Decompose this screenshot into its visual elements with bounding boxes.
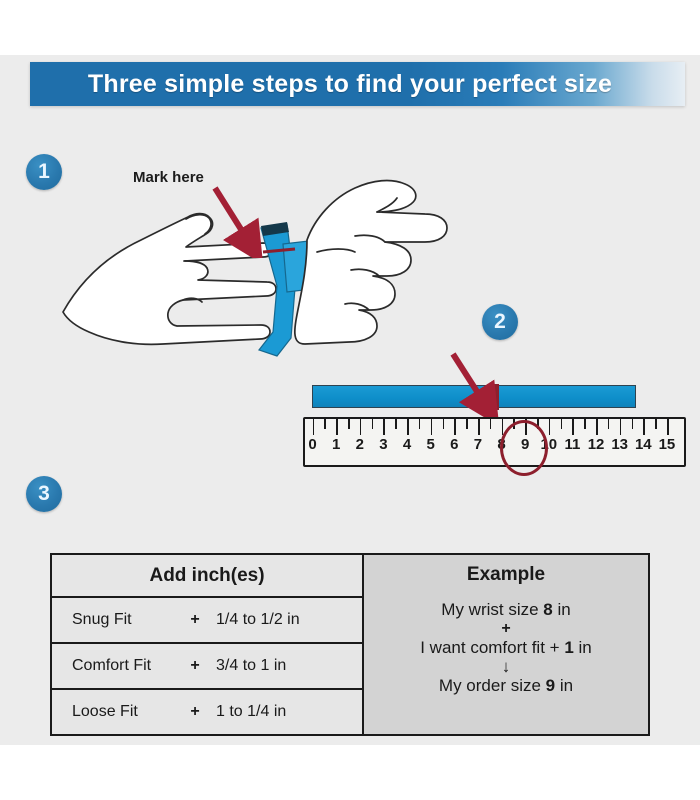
example-line-3: My order size 9 in (439, 676, 573, 697)
example-added-inches: 1 (564, 638, 573, 657)
ruler-tick-minor (655, 419, 657, 429)
example-line2-prefix: I want comfort fit + (420, 638, 564, 657)
ruler-tick-minor (443, 419, 445, 429)
ruler-tick-minor (395, 419, 397, 429)
example-line3-suffix: in (555, 676, 573, 695)
ruler-label: 1 (332, 436, 340, 453)
mark-here-arrow-icon (205, 180, 265, 258)
example-line-2: I want comfort fit + 1 in (420, 638, 592, 659)
fit-name: Loose Fit (52, 703, 174, 721)
ruler-tick-major (549, 419, 551, 435)
table-row: Snug Fit + 1/4 to 1/2 in (52, 598, 362, 644)
ruler-tick-minor (608, 419, 610, 429)
page-title: Three simple steps to find your perfect … (30, 62, 670, 106)
ruler-label: 0 (308, 436, 316, 453)
ruler-tick-major (572, 419, 574, 435)
example-down-arrow-icon: ↓ (502, 658, 511, 676)
example-wrist-size: 8 (543, 600, 552, 619)
example-panel: Example My wrist size 8 in + I want comf… (364, 555, 648, 734)
ruler-tick-major (383, 419, 385, 435)
ruler-tick-major (478, 419, 480, 435)
ruler-label: 3 (379, 436, 387, 453)
fit-name: Snug Fit (52, 611, 174, 629)
header-banner: Three simple steps to find your perfect … (30, 62, 685, 106)
ruler: 0123456789101112131415 (303, 417, 686, 467)
ruler-label: 2 (356, 436, 364, 453)
ruler-tick-major (643, 419, 645, 435)
ruler-tick-minor (584, 419, 586, 429)
ruler-label: 6 (450, 436, 458, 453)
ruler-label: 15 (659, 436, 676, 453)
example-line2-suffix: in (574, 638, 592, 657)
ruler-tick-major (454, 419, 456, 435)
example-line1-prefix: My wrist size (441, 600, 543, 619)
ruler-tick-major (667, 419, 669, 435)
ruler-tick-major (620, 419, 622, 435)
ruler-tick-minor (490, 419, 492, 429)
ruler-tick-major (431, 419, 433, 435)
ruler-tick-minor (348, 419, 350, 429)
table-header: Add inch(es) (52, 555, 362, 598)
ruler-tick-minor (632, 419, 634, 429)
plus-symbol: + (174, 657, 216, 675)
fit-value: 3/4 to 1 in (216, 657, 362, 675)
example-line1-suffix: in (553, 600, 571, 619)
ruler-label: 12 (588, 436, 605, 453)
ruler-label: 11 (565, 436, 581, 453)
ruler-tick-minor (466, 419, 468, 429)
table-row: Loose Fit + 1 to 1/4 in (52, 690, 362, 734)
add-inches-table: Add inch(es) Snug Fit + 1/4 to 1/2 in Co… (52, 555, 364, 734)
fit-value: 1/4 to 1/2 in (216, 611, 362, 629)
ruler-label: 5 (427, 436, 435, 453)
fit-name: Comfort Fit (52, 657, 174, 675)
plus-symbol: + (174, 611, 216, 629)
example-order-size: 9 (546, 676, 555, 695)
ruler-tick-major (360, 419, 362, 435)
example-plus-symbol: + (501, 621, 510, 638)
fit-value: 1 to 1/4 in (216, 703, 362, 721)
ruler-label: 13 (611, 436, 628, 453)
ruler-label: 4 (403, 436, 411, 453)
measure-point-arrow-icon (445, 348, 505, 420)
example-line3-prefix: My order size (439, 676, 546, 695)
step-badge-3: 3 (26, 476, 62, 512)
ruler-tick-major (336, 419, 338, 435)
step-badge-2: 2 (482, 304, 518, 340)
ruler-tick-major (313, 419, 315, 435)
ruler-label: 7 (474, 436, 482, 453)
wrist-measure-illustration (55, 160, 475, 360)
ruler-label: 14 (635, 436, 652, 453)
sizing-tables: Add inch(es) Snug Fit + 1/4 to 1/2 in Co… (50, 553, 650, 736)
ruler-tick-minor (561, 419, 563, 429)
table-row: Comfort Fit + 3/4 to 1 in (52, 644, 362, 690)
ruler-tick-minor (372, 419, 374, 429)
ruler-tick-minor (419, 419, 421, 429)
ruler-tick-major (407, 419, 409, 435)
example-line-1: My wrist size 8 in (441, 600, 570, 621)
ruler-tick-minor (324, 419, 326, 429)
example-title: Example (467, 564, 545, 586)
ruler-tick-major (596, 419, 598, 435)
infographic-canvas: Three simple steps to find your perfect … (0, 0, 700, 800)
plus-symbol: + (174, 703, 216, 721)
circled-measurement-highlight (500, 420, 548, 476)
